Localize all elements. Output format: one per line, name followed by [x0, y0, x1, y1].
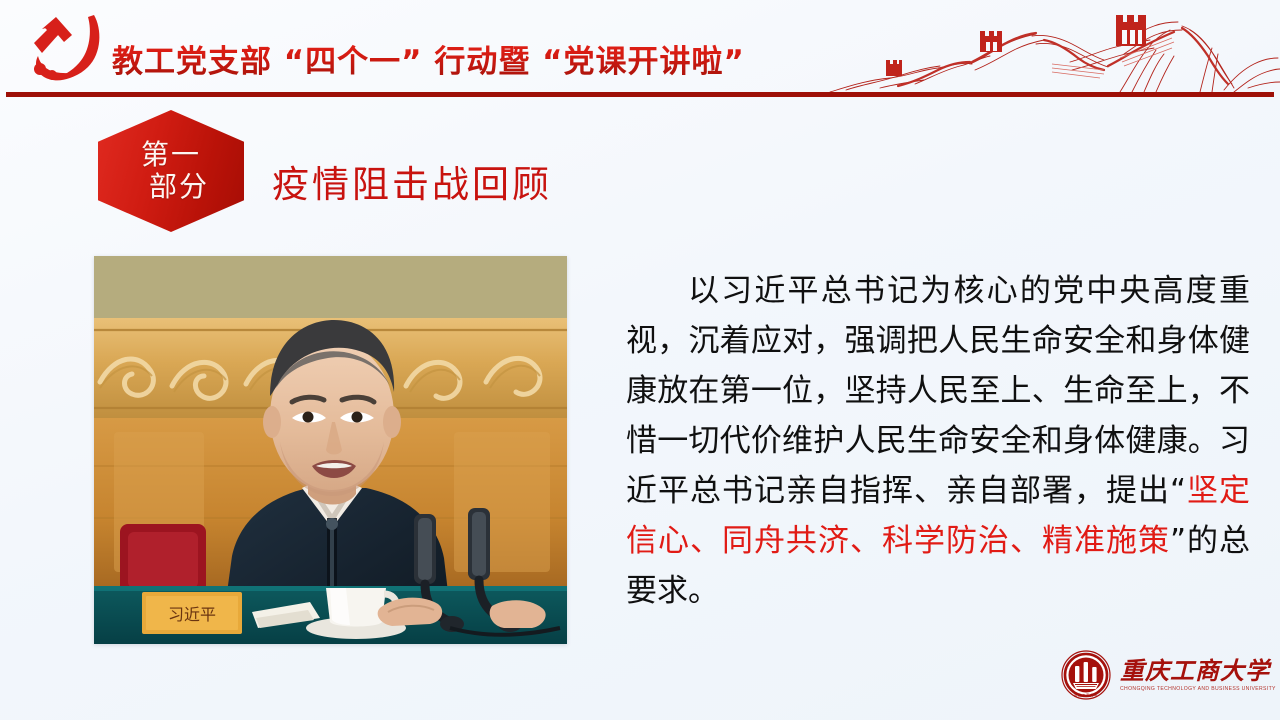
- university-name-en: CHONGQING TECHNOLOGY AND BUSINESS UNIVER…: [1120, 686, 1276, 692]
- slide-root: 教工党支部 “四个一” 行动暨 “党课开讲啦” 第一 部分 疫情阻击战回顾: [0, 0, 1280, 720]
- university-name-cn: 重庆工商大学: [1120, 658, 1273, 683]
- section-badge-part-one: 第一 部分: [98, 110, 244, 232]
- xi-jinping-speech-photo: 习近平: [94, 256, 567, 644]
- section-badge-line-2: 部分: [149, 171, 209, 203]
- header-title: 教工党支部 “四个一” 行动暨 “党课开讲啦”: [112, 32, 745, 84]
- university-seal-icon: 重庆工商大学: [1060, 649, 1112, 701]
- section-badge-line-1: 第一: [141, 139, 201, 171]
- header-divider-rule: [6, 92, 1274, 97]
- svg-text:习近平: 习近平: [168, 605, 216, 624]
- slide-header: 教工党支部 “四个一” 行动暨 “党课开讲啦”: [0, 0, 1280, 99]
- section-header-row: 第一 部分 疫情阻击战回顾: [0, 108, 1280, 233]
- university-logo-text: 重庆工商大学 CHONGQING TECHNOLOGY AND BUSINESS…: [1120, 658, 1273, 692]
- paragraph-text-lead: 以习近平总书记为核心的党中央高度重视，沉着应对，强调把人民生命安全和身体健康放在…: [626, 273, 1250, 509]
- svg-text:重庆工商大学: 重庆工商大学: [1074, 693, 1098, 698]
- university-logo: 重庆工商大学 重庆工商大学 CHONGQING TECHNOLOGY AND B…: [1060, 646, 1260, 704]
- cpc-hammer-sickle-icon: [22, 9, 110, 89]
- great-wall-illustration-icon: [820, 0, 1280, 96]
- body-paragraph: 以习近平总书记为核心的党中央高度重视，沉着应对，强调把人民生命安全和身体健康放在…: [626, 266, 1250, 616]
- section-title: 疫情阻击战回顾: [272, 154, 552, 208]
